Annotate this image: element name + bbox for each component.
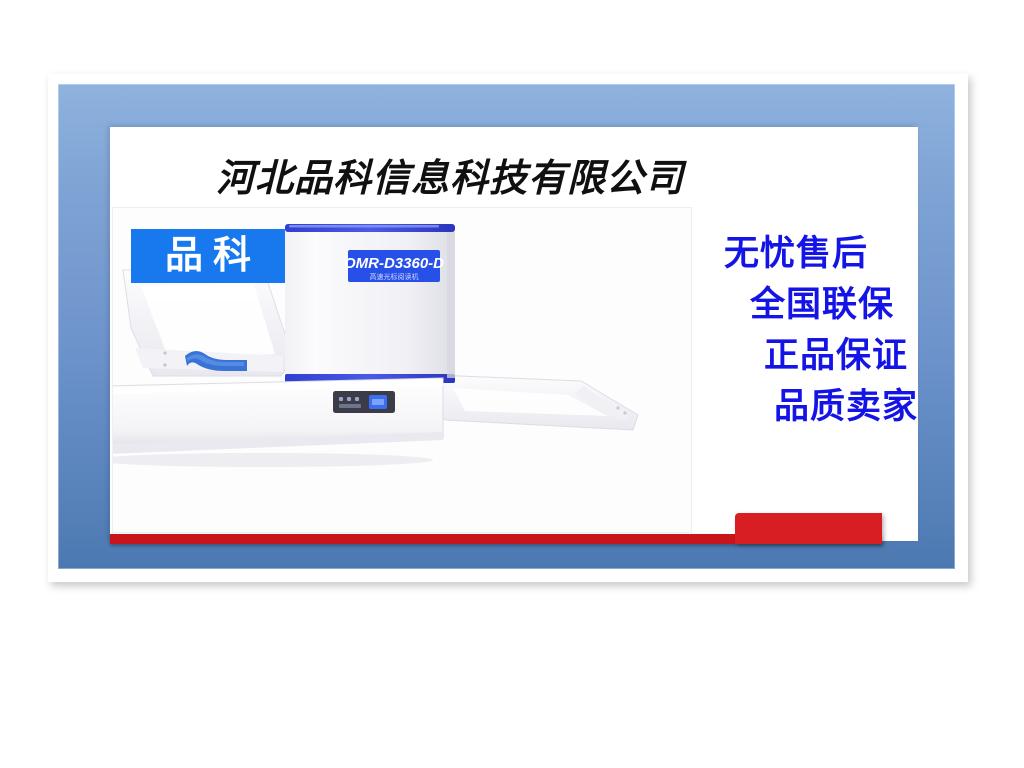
scanner-tower: OMR-D3360-D 高速光标阅读机 xyxy=(285,224,455,383)
red-accent-block xyxy=(735,513,882,544)
slogan-line-2: 全国联保 xyxy=(690,279,918,330)
product-photo: OMR-D3360-D 高速光标阅读机 品科 xyxy=(112,207,692,533)
model-sublabel-text: 高速光标阅读机 xyxy=(370,272,419,281)
slogan-list: 无忧售后 全国联保 正品保证 品质卖家 xyxy=(690,228,918,432)
model-plate: OMR-D3360-D 高速光标阅读机 xyxy=(344,250,444,282)
brand-badge: 品科 xyxy=(131,229,285,283)
page-title: 河北品科信息科技有限公司 xyxy=(130,147,770,202)
control-panel[interactable] xyxy=(333,391,395,413)
slogan-line-4: 品质卖家 xyxy=(690,381,918,432)
scanner-base xyxy=(113,378,443,454)
slogan-line-3: 正品保证 xyxy=(690,330,918,381)
model-label-text: OMR-D3360-D xyxy=(344,255,444,272)
slogan-line-1: 无忧售后 xyxy=(690,228,918,279)
